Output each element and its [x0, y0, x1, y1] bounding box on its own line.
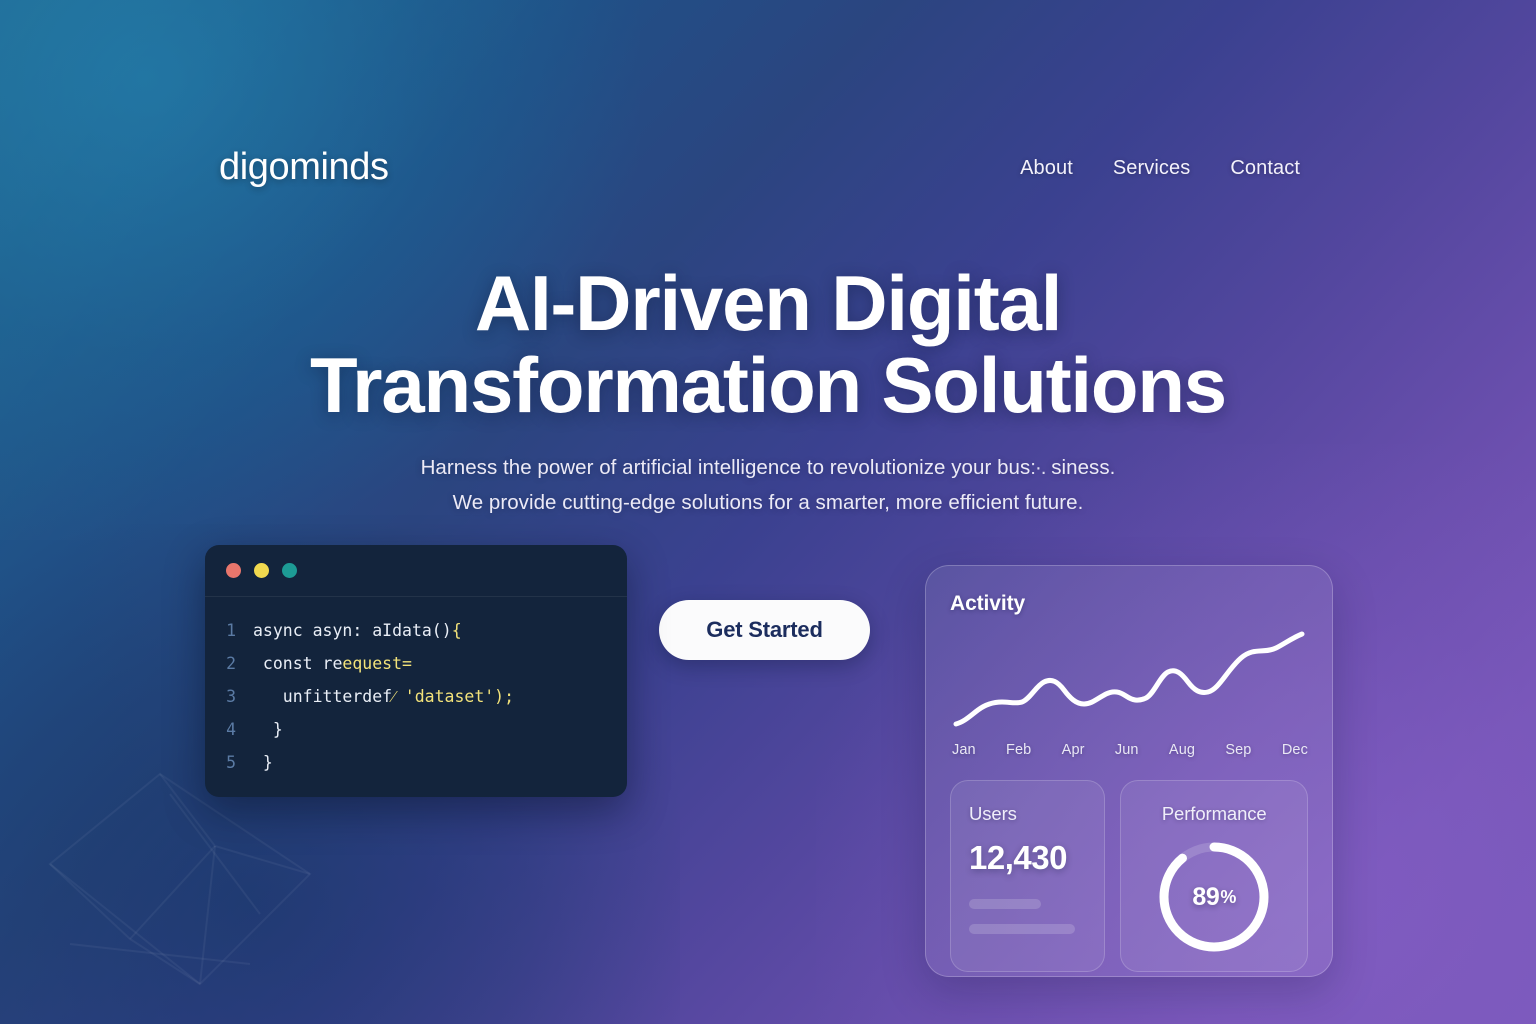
- code-token-string: 'dataset');: [405, 687, 514, 706]
- performance-unit: %: [1220, 887, 1236, 908]
- code-token-highlight: ⁄: [392, 687, 405, 706]
- code-editor-window: 1 async asyn: aIdata(){ 2 const reequest…: [205, 545, 627, 797]
- month-label: Sep: [1225, 742, 1251, 758]
- code-line-number: 3: [205, 680, 253, 713]
- stat-cards-row: Users 12,430 Performance 89%: [950, 780, 1308, 972]
- activity-card-title: Activity: [950, 592, 1308, 616]
- hero-page: digominds About Services Contact AI-Driv…: [0, 0, 1536, 1024]
- code-token: async asyn: aIdata(): [253, 621, 452, 640]
- month-label: Jun: [1115, 742, 1139, 758]
- performance-donut-chart: 89%: [1154, 837, 1274, 957]
- minimize-window-icon[interactable]: [254, 563, 269, 578]
- performance-value: 89: [1192, 883, 1219, 912]
- site-header: digominds About Services Contact: [0, 0, 1536, 240]
- activity-line-path: [956, 634, 1302, 724]
- users-label: Users: [969, 803, 1086, 825]
- performance-stat-card: Performance 89%: [1120, 780, 1308, 972]
- code-token-highlight: equest=: [342, 654, 412, 673]
- month-label: Jan: [952, 742, 976, 758]
- code-token: const re: [253, 654, 342, 673]
- hero-subtitle-line-3: efficient future.: [948, 491, 1083, 514]
- hero-section: AI-Driven Digital Transformation Solutio…: [0, 262, 1536, 520]
- page-title: AI-Driven Digital Transformation Solutio…: [268, 262, 1268, 426]
- code-line: 3 unfitterdef⁄ 'dataset');: [205, 680, 627, 713]
- code-editor-body[interactable]: 1 async asyn: aIdata(){ 2 const reequest…: [205, 597, 627, 779]
- hero-subtitle: Harness the power of artificial intellig…: [403, 450, 1133, 520]
- code-line-number: 4: [205, 713, 253, 746]
- placeholder-bar: [969, 899, 1041, 909]
- activity-chart-x-axis: Jan Feb Apr Jun Aug Sep Dec: [952, 742, 1308, 758]
- code-token-brace: {: [452, 621, 462, 640]
- maximize-window-icon[interactable]: [282, 563, 297, 578]
- code-editor-titlebar: [205, 545, 627, 597]
- code-line: 5 }: [205, 746, 627, 779]
- month-label: Apr: [1062, 742, 1085, 758]
- hero-subtitle-artifact: :·.: [1030, 456, 1045, 479]
- users-value: 12,430: [969, 839, 1086, 877]
- dashboard-card: Activity Jan Feb Apr Jun Aug Sep Dec Use…: [925, 565, 1333, 977]
- code-line-number: 2: [205, 647, 253, 680]
- code-token: }: [253, 713, 283, 746]
- brand-logo[interactable]: digominds: [219, 148, 389, 186]
- get-started-button[interactable]: Get Started: [659, 600, 870, 660]
- hero-title-line-1: AI-Driven Digital: [475, 259, 1061, 347]
- performance-label: Performance: [1121, 803, 1307, 825]
- code-token: unfitterdef: [253, 687, 392, 706]
- code-token: }: [253, 746, 273, 779]
- activity-line-chart-svg: [950, 622, 1310, 734]
- hero-title-line-2: Transformation Solutions: [268, 344, 1268, 426]
- nav-item-contact[interactable]: Contact: [1230, 158, 1300, 178]
- nav-item-about[interactable]: About: [1020, 158, 1073, 178]
- code-line: 4 }: [205, 713, 627, 746]
- nav-item-services[interactable]: Services: [1113, 158, 1191, 178]
- month-label: Aug: [1169, 742, 1195, 758]
- close-window-icon[interactable]: [226, 563, 241, 578]
- month-label: Dec: [1282, 742, 1308, 758]
- code-line: 1 async asyn: aIdata(){: [205, 614, 627, 647]
- activity-line-chart: [950, 622, 1310, 734]
- code-line-number: 5: [205, 746, 253, 779]
- hero-subtitle-line-1: Harness the power of artificial intellig…: [421, 456, 1031, 479]
- month-label: Feb: [1006, 742, 1031, 758]
- code-line-number: 1: [205, 614, 253, 647]
- users-stat-card: Users 12,430: [950, 780, 1105, 972]
- performance-value-label: 89%: [1154, 837, 1274, 957]
- main-navigation: About Services Contact: [1020, 148, 1300, 178]
- code-line: 2 const reequest=: [205, 647, 627, 680]
- placeholder-bar: [969, 924, 1075, 934]
